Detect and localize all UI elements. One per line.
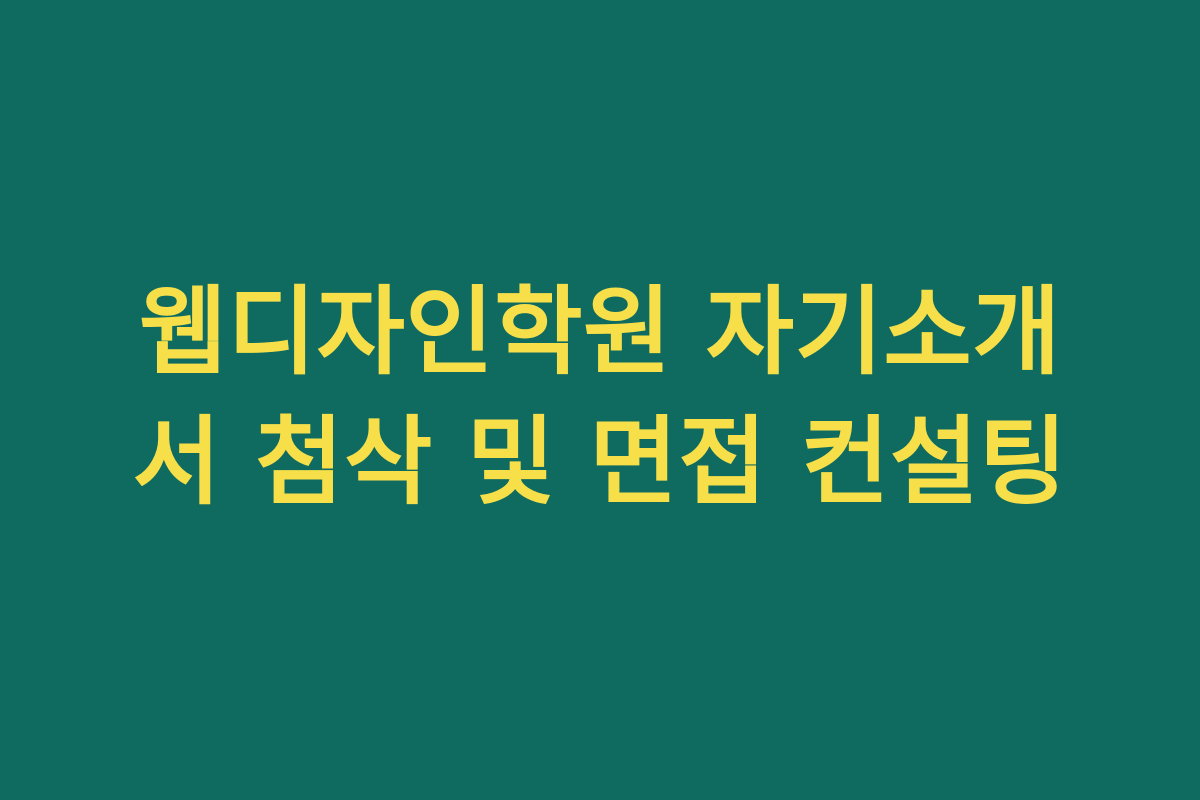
banner-title-line-1: 웹디자인학원 자기소개	[100, 267, 1100, 397]
banner-canvas: 웹디자인학원 자기소개 서 첨삭 및 면접 컨설팅	[0, 0, 1200, 800]
banner-title-line-2: 서 첨삭 및 면접 컨설팅	[100, 397, 1100, 527]
banner-title: 웹디자인학원 자기소개 서 첨삭 및 면접 컨설팅	[100, 267, 1100, 533]
